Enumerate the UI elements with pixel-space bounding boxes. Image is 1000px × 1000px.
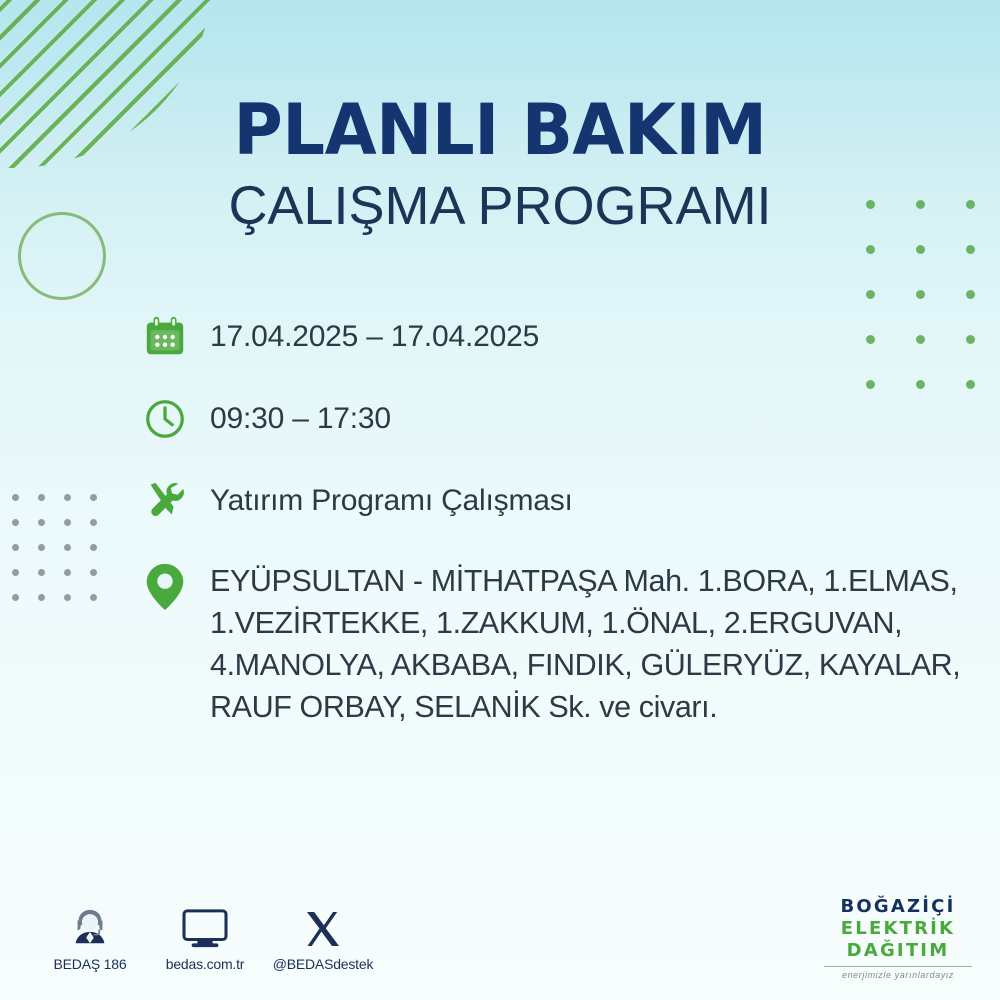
page-subtitle: ÇALIŞMA PROGRAMI (0, 179, 1000, 233)
address-line: RAUF ORBAY, SELANİK Sk. ve civarı. (210, 686, 960, 728)
location-pin-icon (138, 556, 192, 614)
brand-logo: BOĞAZİÇİ ELEKTRİK DAĞITIM enerjimizle ya… (818, 898, 978, 980)
work-type-value: Yatırım Programı Çalışması (192, 474, 958, 520)
logo-divider (824, 966, 972, 967)
tools-icon (138, 474, 192, 528)
contact-x-label: @BEDASdestek (248, 956, 398, 972)
logo-line-elektrik: ELEKTRİK (818, 920, 978, 938)
logo-line-bogazici: BOĞAZİÇİ (818, 898, 978, 916)
info-row-date: 17.04.2025 – 17.04.2025 (138, 310, 958, 364)
page-title: PLANLI BAKIM (20, 95, 980, 165)
time-range-value: 09:30 – 17:30 (192, 392, 958, 438)
dot-grid-left-decoration (12, 494, 116, 619)
logo-line-dagitim: DAĞITIM (818, 942, 978, 960)
address-line: EYÜPSULTAN - MİTHATPAŞA Mah. 1.BORA, 1.E… (210, 560, 960, 602)
date-range-value: 17.04.2025 – 17.04.2025 (192, 310, 958, 356)
poster-canvas: PLANLI BAKIM ÇALIŞMA PROGRAMI (0, 0, 1000, 1000)
info-row-time: 09:30 – 17:30 (138, 392, 958, 446)
heading-block: PLANLI BAKIM ÇALIŞMA PROGRAMI (0, 95, 1000, 233)
x-logo-icon (248, 900, 398, 950)
info-row-work-type: Yatırım Programı Çalışması (138, 474, 958, 528)
address-line: 4.MANOLYA, AKBABA, FINDIK, GÜLERYÜZ, KAY… (210, 644, 960, 686)
clock-icon (138, 392, 192, 446)
contact-item-x[interactable]: @BEDASdestek (248, 900, 398, 972)
info-row-location: EYÜPSULTAN - MİTHATPAŞA Mah. 1.BORA, 1.E… (138, 556, 958, 728)
logo-tagline: enerjimizle yarınlardayız (818, 971, 978, 980)
info-list: 17.04.2025 – 17.04.2025 09:30 – 17:30 (138, 310, 958, 756)
calendar-icon (138, 310, 192, 364)
location-value: EYÜPSULTAN - MİTHATPAŞA Mah. 1.BORA, 1.E… (192, 556, 960, 728)
address-line: 1.VEZİRTEKKE, 1.ZAKKUM, 1.ÖNAL, 2.ERGUVA… (210, 602, 960, 644)
